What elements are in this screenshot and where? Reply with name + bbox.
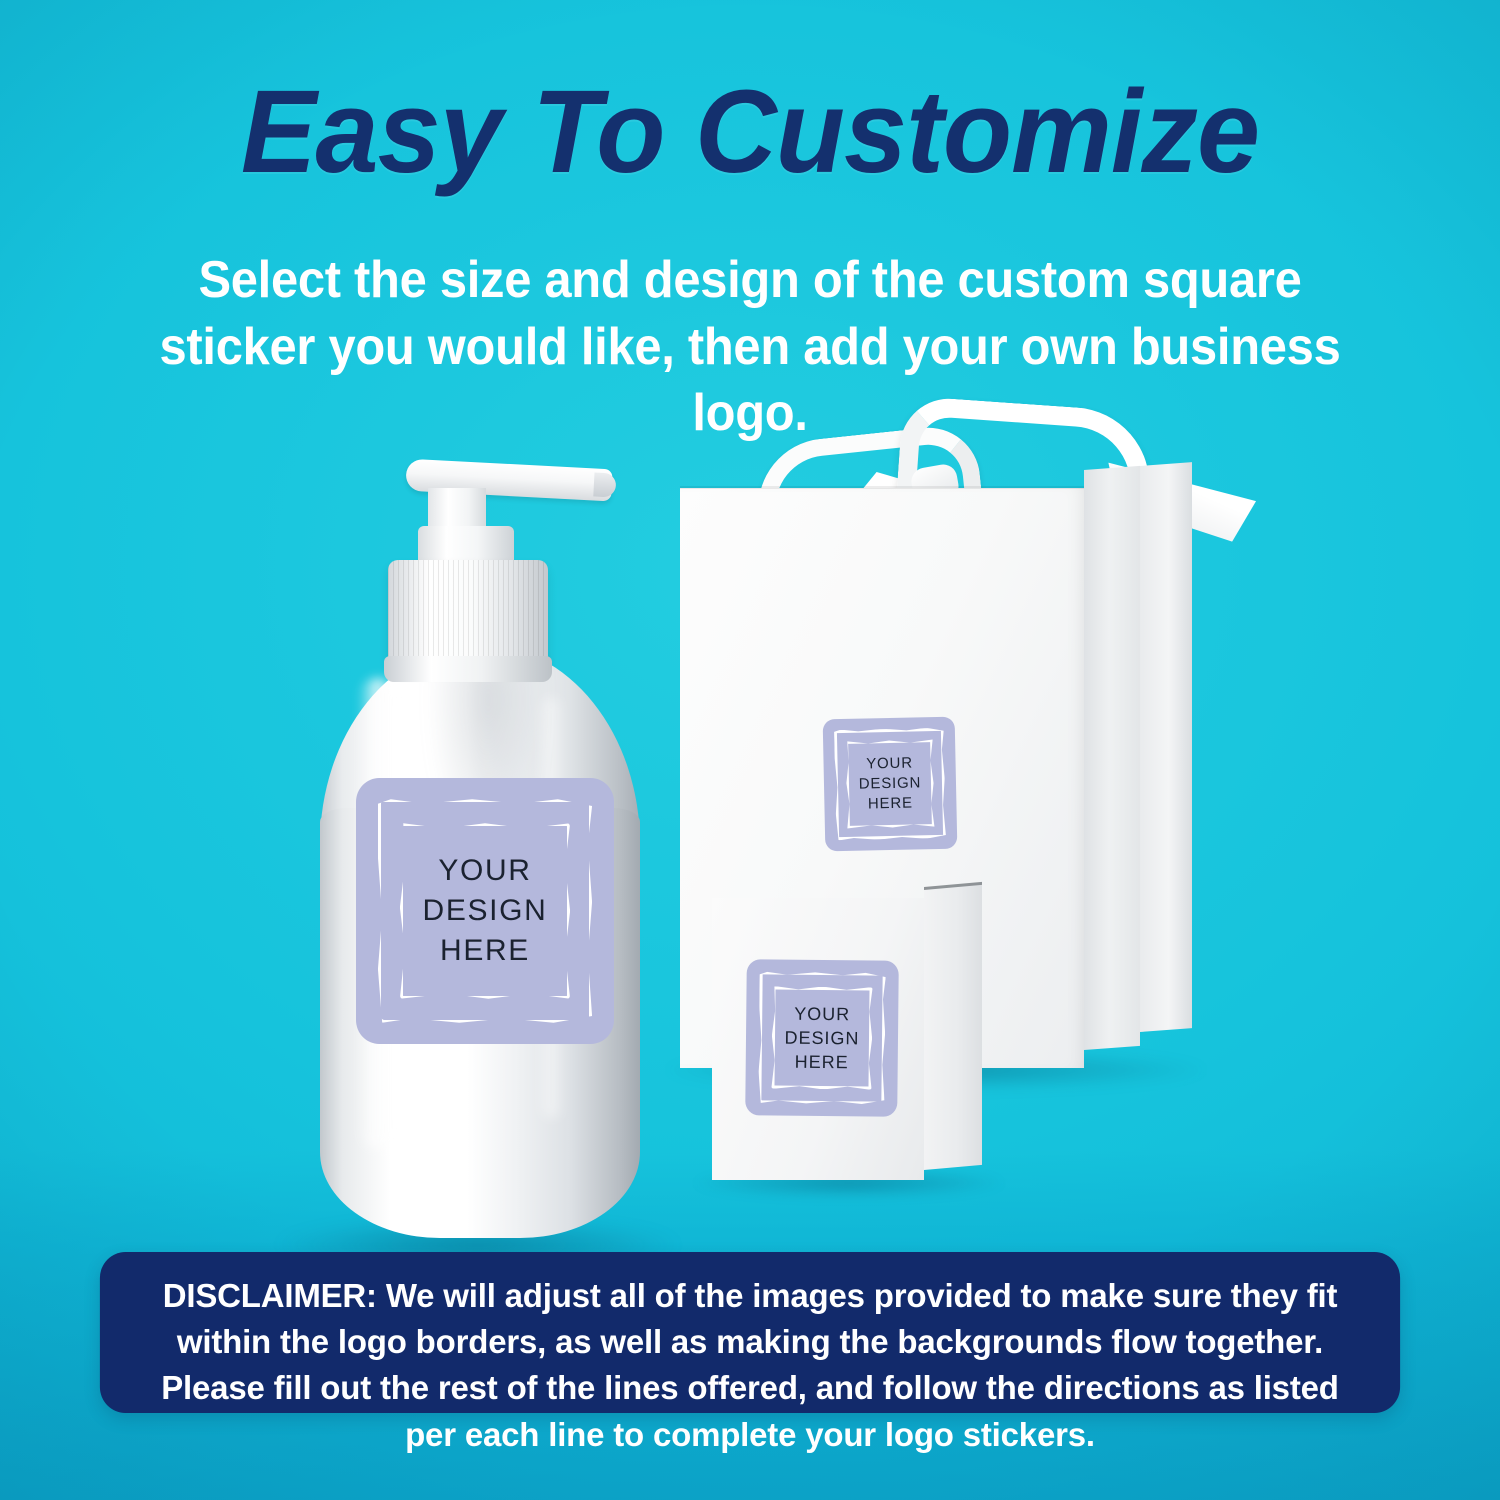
gift-box-side-panel — [1084, 466, 1140, 1050]
sticker-line-1: YOUR — [785, 1001, 860, 1026]
sticker-line-2: DESIGN — [859, 773, 922, 794]
disclaimer-banner: DISCLAIMER: We will adjust all of the im… — [100, 1252, 1400, 1413]
small-box-side-panel — [924, 885, 982, 1170]
sticker-on-bottle: YOUR DESIGN HERE — [356, 778, 614, 1044]
sticker-on-small-box: YOUR DESIGN HERE — [745, 959, 899, 1117]
gift-box-back-panel — [1140, 462, 1192, 1032]
sticker-line-3: HERE — [784, 1050, 859, 1075]
product-small-box: YOUR DESIGN HERE — [700, 890, 1000, 1200]
gift-box-lid-seam — [680, 486, 1084, 489]
sticker-placeholder-text: YOUR DESIGN HERE — [784, 1001, 860, 1074]
page-title: Easy To Customize — [30, 72, 1470, 192]
sticker-line-2: DESIGN — [784, 1026, 859, 1051]
sticker-line-3: HERE — [859, 793, 922, 814]
sticker-line-3: HERE — [423, 931, 548, 971]
pump-collar — [388, 560, 548, 668]
sticker-placeholder-text: YOUR DESIGN HERE — [423, 851, 548, 972]
promo-graphic: Easy To Customize Select the size and de… — [0, 0, 1500, 1500]
sticker-line-2: DESIGN — [423, 891, 548, 931]
sticker-line-1: YOUR — [423, 851, 548, 891]
sticker-line-1: YOUR — [858, 753, 921, 774]
pump-collar-base — [384, 656, 552, 682]
product-pump-bottle: YOUR DESIGN HERE — [310, 448, 650, 1248]
sticker-on-gift-box: YOUR DESIGN HERE — [823, 717, 958, 852]
sticker-placeholder-text: YOUR DESIGN HERE — [858, 753, 922, 815]
disclaimer-label: DISCLAIMER: — [163, 1278, 377, 1315]
